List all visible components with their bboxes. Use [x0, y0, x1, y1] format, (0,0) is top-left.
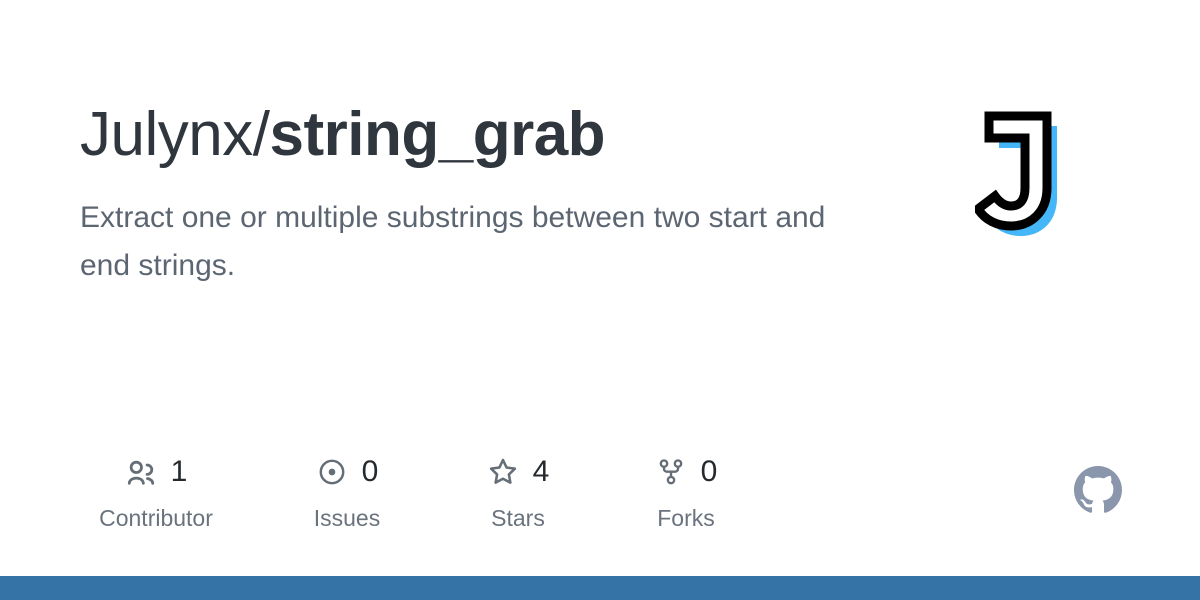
- language-color-bar: [0, 576, 1200, 600]
- stat-stars-top: 4: [487, 452, 550, 492]
- stat-issues[interactable]: 0 Issues: [288, 452, 406, 532]
- stat-forks[interactable]: 0 Forks: [630, 452, 742, 532]
- stat-stars-label: Stars: [491, 504, 545, 532]
- stat-contributors-value: 1: [171, 456, 188, 488]
- repo-owner[interactable]: Julynx: [80, 100, 253, 169]
- stat-forks-label: Forks: [657, 504, 715, 532]
- julynx-j-avatar-letter: [978, 116, 1047, 226]
- stat-issues-label: Issues: [314, 504, 380, 532]
- github-social-preview-card: Julynx/string_grab Extract one or multip…: [0, 0, 1200, 600]
- issue-opened-icon: [316, 456, 348, 488]
- stat-forks-top: 0: [655, 452, 718, 492]
- github-mark-icon: [1074, 466, 1122, 514]
- stat-forks-value: 0: [701, 456, 718, 488]
- stat-stars-value: 4: [533, 456, 550, 488]
- repository-stats: 1 Contributor 0 Issues: [80, 452, 742, 532]
- repo-description: Extract one or multiple substrings betwe…: [80, 174, 870, 290]
- star-icon: [487, 456, 519, 488]
- repo-name[interactable]: string_grab: [269, 100, 605, 169]
- stat-contributors[interactable]: 1 Contributor: [80, 452, 232, 532]
- repository-header: Julynx/string_grab Extract one or multip…: [80, 96, 940, 290]
- repo-forked-icon: [655, 456, 687, 488]
- stat-stars[interactable]: 4 Stars: [462, 452, 574, 532]
- page-title: Julynx/string_grab: [80, 96, 940, 174]
- stat-contributors-label: Contributor: [99, 504, 213, 532]
- owner-avatar[interactable]: [975, 110, 1085, 250]
- stat-issues-value: 0: [362, 456, 379, 488]
- stat-contributors-top: 1: [125, 452, 188, 492]
- repo-separator: /: [253, 100, 270, 169]
- stat-issues-top: 0: [316, 452, 379, 492]
- people-icon: [125, 456, 157, 488]
